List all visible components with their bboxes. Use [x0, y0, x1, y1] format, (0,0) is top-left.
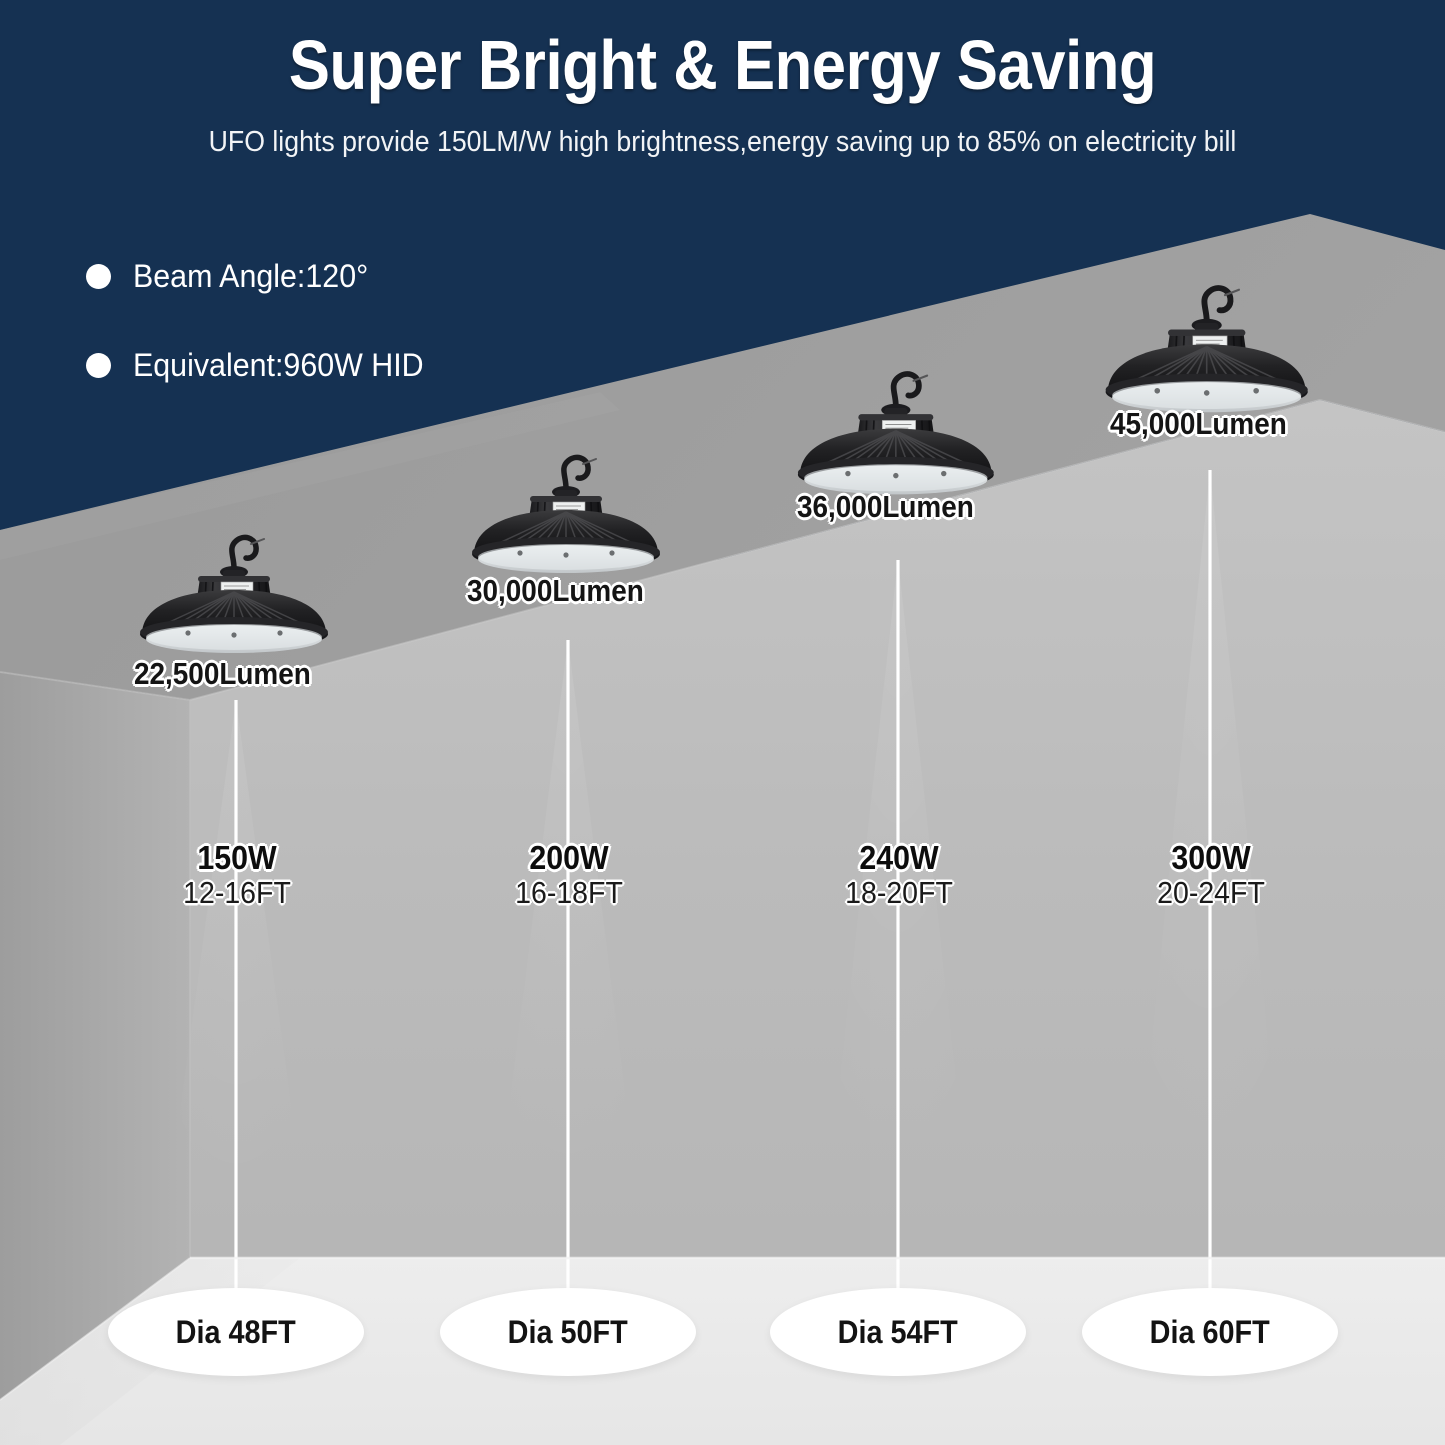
- coverage-label-300w: Dia 60FT: [1150, 1314, 1270, 1351]
- ufo-high-bay-light-240w: [775, 368, 1025, 502]
- watt-label-240w: 240W: [804, 840, 994, 876]
- feature-bullet-label: Beam Angle:120°: [133, 258, 368, 295]
- ufo-high-bay-light-300w: [1082, 282, 1340, 420]
- mount-height-label-200w: 16-18FT: [474, 876, 664, 910]
- lumen-label-300w: 45,000Lumen: [1110, 406, 1287, 442]
- lumen-label-240w: 36,000Lumen: [797, 489, 974, 525]
- mount-height-label-240w: 18-20FT: [804, 876, 994, 910]
- feature-bullet-label: Equivalent:960W HID: [133, 347, 424, 384]
- spec-block-200w: 200W 16-18FT: [466, 840, 672, 910]
- coverage-label-240w: Dia 54FT: [838, 1314, 958, 1351]
- bullet-dot-icon: [86, 353, 111, 378]
- mount-height-label-150w: 12-16FT: [142, 876, 332, 910]
- feature-bullet-list: Beam Angle:120° Equivalent:960W HID: [86, 258, 439, 436]
- lumen-label-200w: 30,000Lumen: [467, 573, 644, 609]
- ufo-high-bay-light-200w: [450, 452, 690, 580]
- spec-block-150w: 150W 12-16FT: [134, 840, 340, 910]
- coverage-ellipse-150w: Dia 48FT: [108, 1288, 364, 1376]
- header-block: Super Bright & Energy Saving UFO lights …: [0, 0, 1445, 159]
- page-title: Super Bright & Energy Saving: [87, 30, 1359, 100]
- lumen-label-150w: 22,500Lumen: [134, 656, 311, 692]
- coverage-ellipse-300w: Dia 60FT: [1082, 1288, 1338, 1376]
- room-scene: [0, 0, 1445, 1445]
- bullet-dot-icon: [86, 264, 111, 289]
- coverage-label-200w: Dia 50FT: [508, 1314, 628, 1351]
- watt-label-200w: 200W: [474, 840, 664, 876]
- page-subtitle: UFO lights provide 150LM/W high brightne…: [58, 126, 1387, 159]
- spec-block-300w: 300W 20-24FT: [1108, 840, 1314, 910]
- ufo-high-bay-light-150w: [118, 532, 358, 660]
- feature-bullet-beam-angle: Beam Angle:120°: [86, 258, 439, 295]
- mount-height-label-300w: 20-24FT: [1116, 876, 1306, 910]
- spec-block-240w: 240W 18-20FT: [796, 840, 1002, 910]
- watt-label-150w: 150W: [142, 840, 332, 876]
- coverage-ellipse-240w: Dia 54FT: [770, 1288, 1026, 1376]
- watt-label-300w: 300W: [1116, 840, 1306, 876]
- coverage-ellipse-200w: Dia 50FT: [440, 1288, 696, 1376]
- coverage-label-150w: Dia 48FT: [176, 1314, 296, 1351]
- feature-bullet-equivalent: Equivalent:960W HID: [86, 347, 439, 384]
- infographic-root: Super Bright & Energy Saving UFO lights …: [0, 0, 1445, 1445]
